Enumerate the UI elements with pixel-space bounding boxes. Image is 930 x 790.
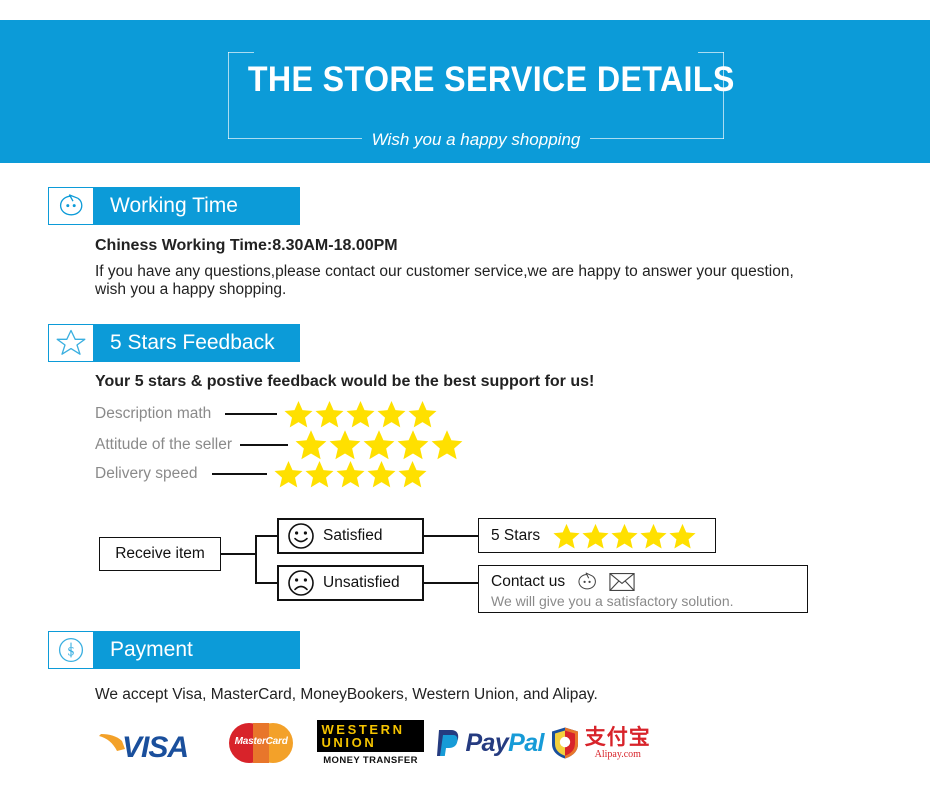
flow-node-receive-item-label: Receive item xyxy=(115,545,205,563)
smiley-happy-icon xyxy=(287,522,315,550)
flow-connector-to-unsatisfied xyxy=(255,582,277,584)
page-title: THE STORE SERVICE DETAILS xyxy=(248,60,704,100)
flow-result-five-stars-rating xyxy=(552,522,697,550)
feedback-headline: Your 5 stars & postive feedback would be… xyxy=(95,373,594,391)
rating-row-description-math: Description math xyxy=(95,399,438,429)
star-icon xyxy=(407,399,438,429)
paypal-text-pal: Pal xyxy=(508,729,544,758)
chat-face-icon xyxy=(48,187,94,225)
star-icon xyxy=(376,399,407,429)
alipay-text-domain: Alipay.com xyxy=(595,750,641,760)
store-service-details-page: THE STORE SERVICE DETAILS Wish you a hap… xyxy=(0,0,930,790)
western-union-block: WESTERN UNION xyxy=(317,720,423,752)
alipay-shield-icon xyxy=(550,726,580,760)
rating-connector-line xyxy=(212,473,267,475)
working-time-headline: Chiness Working Time:8.30AM-18.00PM xyxy=(95,237,398,255)
flow-result-contact-us-heading: Contact us xyxy=(491,570,807,594)
flow-result-contact-us-sub: We will give you a satisfactory solution… xyxy=(491,593,807,609)
flow-result-contact-us-label: Contact us xyxy=(491,573,565,591)
rating-label-description-math: Description math xyxy=(95,405,211,423)
flow-result-contact-us: Contact us We will give you a satisfacto… xyxy=(478,565,808,613)
rating-row-attitude-of-the-seller: Attitude of the seller xyxy=(95,428,464,461)
star-icon xyxy=(283,399,314,429)
star-icon xyxy=(610,522,639,550)
rating-connector-line xyxy=(225,413,277,415)
western-union-logo: WESTERN UNION MONEY TRANSFER xyxy=(309,713,432,773)
smiley-sad-icon xyxy=(287,569,315,597)
flow-result-five-stars: 5 Stars xyxy=(478,518,716,553)
payment-headline: We accept Visa, MasterCard, MoneyBookers… xyxy=(95,686,598,704)
paypal-text-pay: Pay xyxy=(465,729,508,758)
alipay-wordmark: 支付宝 Alipay.com xyxy=(585,727,651,760)
section-title-bar-working-time: Working Time xyxy=(94,187,300,225)
visa-logo: VISA xyxy=(95,713,213,773)
flow-node-unsatisfied-label: Unsatisfied xyxy=(323,574,400,592)
flow-connector-split-vertical xyxy=(255,535,257,584)
star-icon xyxy=(345,399,376,429)
rating-stars-delivery-speed xyxy=(273,459,428,489)
frame-line-top-left xyxy=(228,52,254,53)
western-union-logo-mark: WESTERN UNION MONEY TRANSFER xyxy=(317,720,423,766)
western-union-caption: MONEY TRANSFER xyxy=(323,755,418,766)
star-icon xyxy=(668,522,697,550)
star-icon xyxy=(366,459,397,489)
star-outline-icon-svg xyxy=(55,328,87,358)
rating-label-delivery-speed: Delivery speed xyxy=(95,465,198,483)
flow-connector-unsatisfied-to-result xyxy=(424,582,478,584)
western-union-words: WESTERN UNION xyxy=(321,723,404,749)
page-subtitle-text: Wish you a happy shopping xyxy=(362,130,591,149)
star-icon xyxy=(396,428,430,461)
rating-row-delivery-speed: Delivery speed xyxy=(95,459,428,489)
flow-node-satisfied: Satisfied xyxy=(277,518,424,554)
frame-line-top-right xyxy=(698,52,724,53)
dollar-circle-icon: S xyxy=(48,631,94,669)
section-title-bar-payment: Payment xyxy=(94,631,300,669)
visa-logo-svg: VISA xyxy=(95,721,213,765)
section-title-payment: Payment xyxy=(110,638,193,662)
dollar-circle-icon-svg: S xyxy=(56,635,86,665)
svg-text:VISA: VISA xyxy=(122,731,188,764)
section-title-bar-feedback: 5 Stars Feedback xyxy=(94,324,300,362)
star-outline-icon xyxy=(48,324,94,362)
star-icon xyxy=(552,522,581,550)
section-title-feedback: 5 Stars Feedback xyxy=(110,331,275,355)
rating-stars-description-math xyxy=(283,399,438,429)
payment-logos-row: VISA MasterCard WESTERN UNION xyxy=(95,713,655,773)
paypal-logo: Pay Pal xyxy=(432,713,546,773)
flow-node-unsatisfied: Unsatisfied xyxy=(277,565,424,601)
star-icon xyxy=(273,459,304,489)
section-header-working-time: Working Time xyxy=(48,187,300,225)
section-header-payment: S Payment xyxy=(48,631,300,669)
flow-connector-start xyxy=(221,553,256,555)
banner-decorative-frame: THE STORE SERVICE DETAILS Wish you a hap… xyxy=(228,52,724,139)
mastercard-logo-mark: MasterCard xyxy=(229,723,293,763)
alipay-logo: 支付宝 Alipay.com xyxy=(546,713,655,773)
star-icon xyxy=(397,459,428,489)
section-title-working-time: Working Time xyxy=(110,194,238,218)
star-icon xyxy=(639,522,668,550)
flow-node-receive-item: Receive item xyxy=(99,537,221,571)
star-icon xyxy=(362,428,396,461)
star-icon xyxy=(294,428,328,461)
section-header-feedback: 5 Stars Feedback xyxy=(48,324,300,362)
star-icon xyxy=(335,459,366,489)
frame-line-left xyxy=(228,52,229,139)
header-banner: THE STORE SERVICE DETAILS Wish you a hap… xyxy=(0,20,930,163)
rating-connector-line xyxy=(240,444,288,446)
star-icon xyxy=(328,428,362,461)
rating-label-attitude-of-the-seller: Attitude of the seller xyxy=(95,436,232,454)
flow-connector-satisfied-to-result xyxy=(424,535,478,537)
mastercard-logo: MasterCard xyxy=(213,713,309,773)
flow-node-satisfied-label: Satisfied xyxy=(323,527,382,545)
page-subtitle: Wish you a happy shopping xyxy=(228,130,724,150)
rating-stars-attitude-of-the-seller xyxy=(294,428,464,461)
flow-result-five-stars-label: 5 Stars xyxy=(491,527,540,545)
chat-face-icon xyxy=(574,570,600,594)
paypal-mark-icon xyxy=(433,727,461,759)
star-icon xyxy=(581,522,610,550)
working-time-line-2: wish you a happy shopping. xyxy=(95,280,286,300)
chat-face-icon-svg xyxy=(56,192,86,220)
star-icon xyxy=(304,459,335,489)
mastercard-logo-text: MasterCard xyxy=(229,736,293,747)
flow-connector-to-satisfied xyxy=(255,535,277,537)
western-union-line-2: UNION xyxy=(321,736,404,749)
alipay-text-chinese: 支付宝 xyxy=(585,727,651,748)
envelope-icon xyxy=(609,572,635,592)
star-icon xyxy=(430,428,464,461)
star-icon xyxy=(314,399,345,429)
